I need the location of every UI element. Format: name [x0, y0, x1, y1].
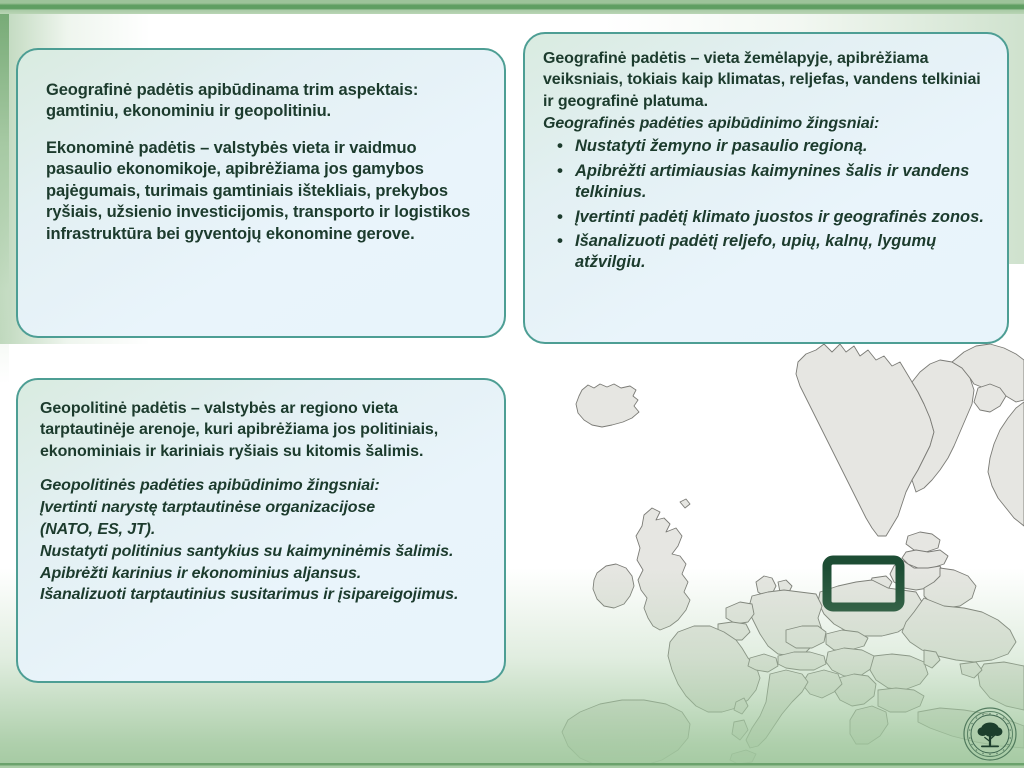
card-geographic-position: Geografinė padėtis – vieta žemėlapyje, a…: [523, 32, 1009, 344]
geopol-lead-text: Geopolitinė padėtis – valstybės ar regio…: [40, 398, 482, 462]
card-geopolitical-position: Geopolitinė padėtis – valstybės ar regio…: [16, 378, 506, 683]
map-landmasses: [562, 344, 1024, 768]
geo-steps-list: Nustatyti žemyno ir pasaulio regioną. Ap…: [543, 136, 991, 274]
geopol-steps-title: Geopolitinės padėties apibūdinimo žingsn…: [40, 476, 482, 496]
bottom-green-line: [0, 763, 1024, 768]
intro-paragraph-2: Ekonominė padėtis – valstybės vieta ir v…: [46, 138, 476, 245]
list-item: Nustatyti politinius santykius su kaimyn…: [40, 541, 482, 563]
geo-lead-text: Geografinė padėtis – vieta žemėlapyje, a…: [543, 48, 991, 112]
europe-map: [520, 330, 1024, 768]
list-item: Išanalizuoti padėtį reljefo, upių, kalnų…: [573, 231, 991, 274]
institution-seal-logo: [962, 706, 1018, 762]
left-green-stripe: [0, 14, 9, 384]
list-item: (NATO, ES, JT).: [40, 519, 482, 541]
list-item: Nustatyti žemyno ir pasaulio regioną.: [573, 136, 991, 157]
slide-canvas: Geografinė padėtis apibūdinama trim aspe…: [0, 0, 1024, 768]
list-item: Apibrėžti karinius ir ekonominius aljans…: [40, 563, 482, 585]
card-intro: Geografinė padėtis apibūdinama trim aspe…: [16, 48, 506, 338]
tree-icon: [978, 723, 1003, 748]
intro-paragraph-1: Geografinė padėtis apibūdinama trim aspe…: [46, 80, 476, 123]
list-item: Įvertinti padėtį klimato juostos ir geog…: [573, 207, 991, 228]
top-green-band: [0, 0, 1024, 14]
list-item: Įvertinti narystę tarptautinėse organiza…: [40, 497, 482, 519]
list-item: Išanalizuoti tarptautinius susitarimus i…: [40, 584, 482, 606]
list-item: Apibrėžti artimiausias kaimynines šalis …: [573, 161, 991, 204]
geo-steps-title: Geografinės padėties apibūdinimo žingsni…: [543, 114, 991, 134]
